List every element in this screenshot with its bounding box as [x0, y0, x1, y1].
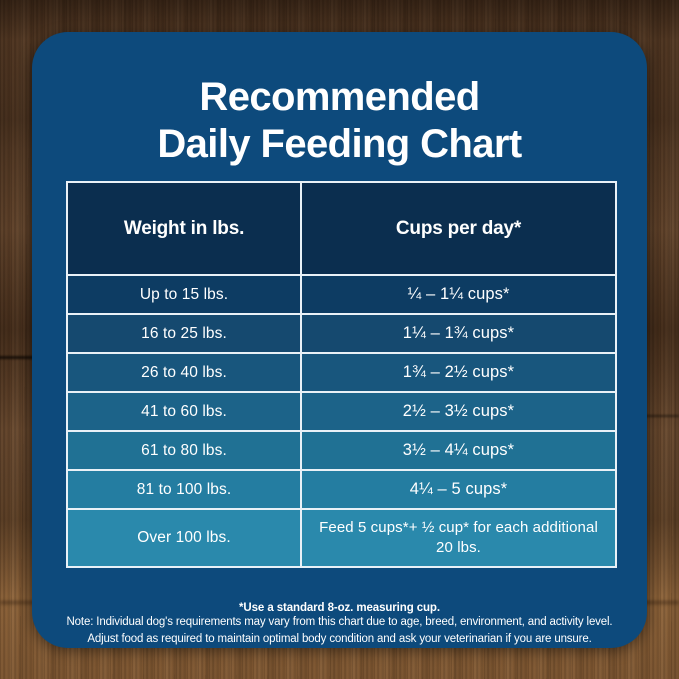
table-header-row: Weight in lbs. Cups per day* [68, 183, 615, 276]
cell-cups: 2½ – 3½ cups* [302, 393, 615, 432]
cell-cups: 1¾ – 2½ cups* [302, 354, 615, 393]
table-row: Up to 15 lbs. ¼ – 1¼ cups* [68, 276, 615, 315]
feeding-chart-table: Weight in lbs. Cups per day* Up to 15 lb… [66, 181, 617, 568]
footnote-adjust: Adjust food as required to maintain opti… [52, 631, 627, 648]
footnotes: *Use a standard 8-oz. measuring cup. Not… [52, 602, 627, 647]
table-row: 16 to 25 lbs. 1¼ – 1¾ cups* [68, 315, 615, 354]
title-line-1: Recommended [56, 74, 623, 121]
cell-cups: 1¼ – 1¾ cups* [302, 315, 615, 354]
cell-cups: 4¼ – 5 cups* [302, 471, 615, 510]
cell-weight: 16 to 25 lbs. [68, 315, 302, 354]
cell-weight: Over 100 lbs. [68, 510, 302, 566]
feeding-chart-card: Recommended Daily Feeding Chart Weight i… [32, 32, 647, 648]
cell-cups: Feed 5 cups*+ ½ cup* for each additional… [302, 510, 615, 566]
table-row: 26 to 40 lbs. 1¾ – 2½ cups* [68, 354, 615, 393]
cell-cups: 3½ – 4¼ cups* [302, 432, 615, 471]
table-row: 81 to 100 lbs. 4¼ – 5 cups* [68, 471, 615, 510]
cell-cups: ¼ – 1¼ cups* [302, 276, 615, 315]
page-title: Recommended Daily Feeding Chart [32, 74, 647, 168]
cell-weight: 81 to 100 lbs. [68, 471, 302, 510]
footnote-measuring-cup: *Use a standard 8-oz. measuring cup. [52, 602, 627, 614]
table-row: 61 to 80 lbs. 3½ – 4¼ cups* [68, 432, 615, 471]
footnote-note: Note: Individual dog's requirements may … [52, 614, 627, 631]
table-row: Over 100 lbs. Feed 5 cups*+ ½ cup* for e… [68, 510, 615, 566]
cell-weight: 61 to 80 lbs. [68, 432, 302, 471]
column-header-cups: Cups per day* [302, 183, 615, 276]
cell-weight: 26 to 40 lbs. [68, 354, 302, 393]
table-row: 41 to 60 lbs. 2½ – 3½ cups* [68, 393, 615, 432]
cell-weight: Up to 15 lbs. [68, 276, 302, 315]
title-line-2: Daily Feeding Chart [56, 121, 623, 168]
column-header-weight: Weight in lbs. [68, 183, 302, 276]
cell-weight: 41 to 60 lbs. [68, 393, 302, 432]
